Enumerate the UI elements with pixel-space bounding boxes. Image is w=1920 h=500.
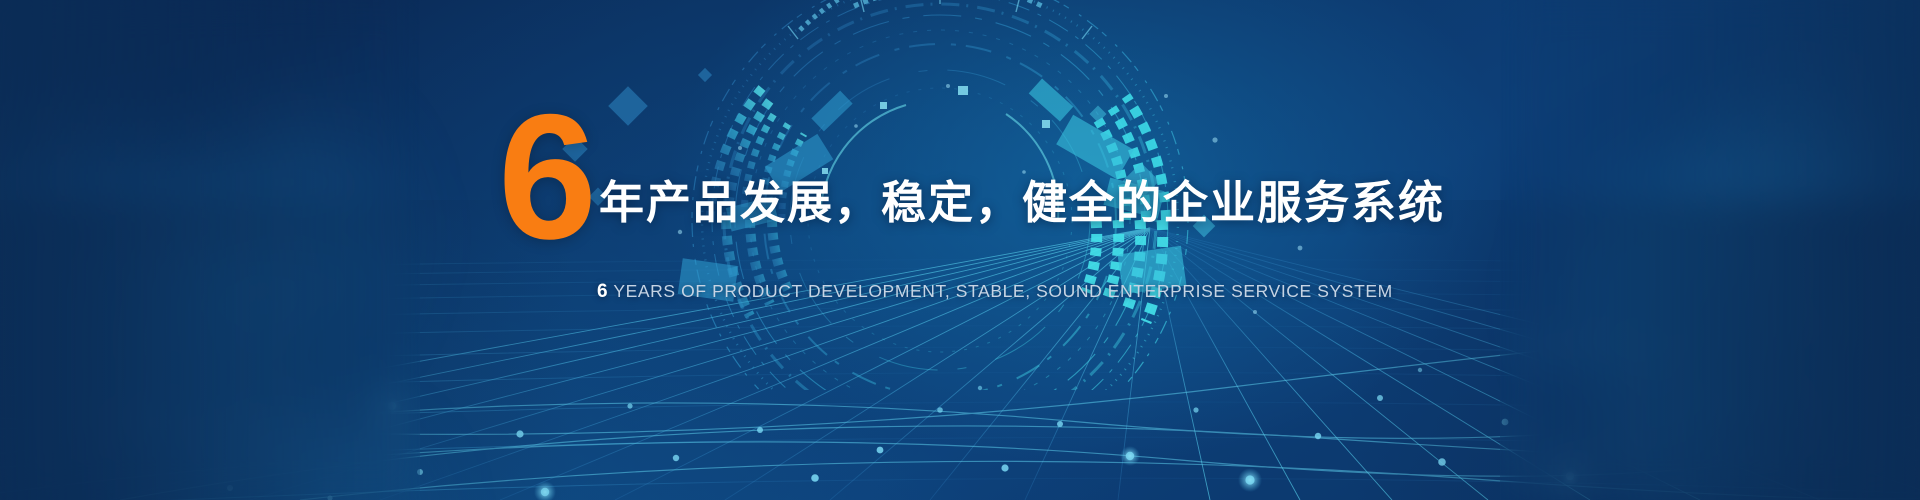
years-number: 6 — [498, 100, 595, 253]
subtitle-english: 6 YEARS OF PRODUCT DEVELOPMENT, STABLE, … — [597, 281, 1393, 303]
headline-chinese: 年产品发展，稳定，健全的企业服务系统 — [599, 166, 1445, 253]
subtitle-text: YEARS OF PRODUCT DEVELOPMENT, STABLE, SO… — [613, 281, 1392, 301]
subtitle-number: 6 — [597, 281, 608, 302]
headline-group: 6 年产品发展，稳定，健全的企业服务系统 — [498, 100, 1445, 253]
hero-banner: 6 年产品发展，稳定，健全的企业服务系统 6 YEARS OF PRODUCT … — [0, 0, 1920, 500]
banner-content: 6 年产品发展，稳定，健全的企业服务系统 6 YEARS OF PRODUCT … — [0, 0, 1920, 500]
